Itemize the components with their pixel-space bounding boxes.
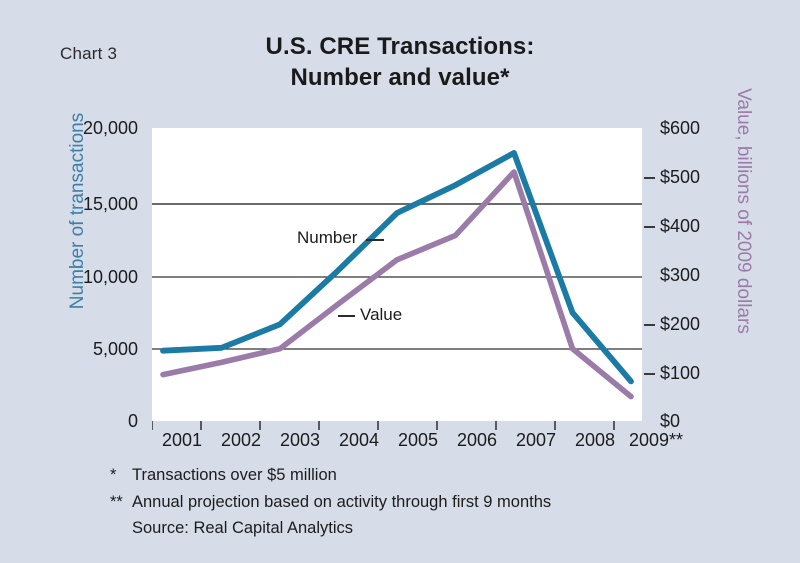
tick-dash-200	[644, 324, 655, 326]
footnote-2: **Annual projection based on activity th…	[110, 489, 551, 516]
plot-svg	[152, 128, 642, 421]
footnote-1: *Transactions over $5 million	[110, 462, 551, 489]
y-axis-right-title: Value, billions of 2009 dollars	[732, 66, 754, 356]
y-axis-right-tick-0: $0	[660, 411, 740, 432]
title-line-1: U.S. CRE Transactions:	[266, 33, 535, 60]
series-leader-value	[338, 315, 355, 317]
footnote-2-mark: **	[110, 489, 132, 516]
y-axis-right-tick-100: $100	[660, 363, 740, 384]
tick-dash-400	[644, 226, 655, 228]
number-series-line	[163, 153, 631, 382]
footnote-1-text: Transactions over $5 million	[132, 466, 337, 484]
title-line-2: Number and value*	[0, 63, 800, 94]
series-label-value: Value	[360, 305, 402, 325]
footnote-source: Source: Real Capital Analytics	[110, 515, 551, 542]
footnote-2-text: Annual projection based on activity thro…	[132, 493, 551, 511]
y-axis-right-tick-500: $500	[660, 167, 740, 188]
tick-dash-100	[644, 373, 655, 375]
y-axis-left-title: Number of transactions	[67, 71, 89, 351]
page-title: U.S. CRE Transactions: Number and value*	[0, 32, 800, 93]
gridlines	[152, 204, 642, 349]
chart-figure: Chart 3 U.S. CRE Transactions: Number an…	[0, 0, 800, 563]
series-label-number: Number	[297, 228, 357, 248]
plot-area	[152, 128, 642, 421]
y-axis-right-tick-200: $200	[660, 314, 740, 335]
y-axis-right-tick-400: $400	[660, 216, 740, 237]
y-axis-left-tick-0: 0	[18, 411, 138, 432]
tick-dash-500	[644, 177, 655, 179]
y-axis-right-tick-600: $600	[660, 118, 740, 139]
footnote-1-mark: *	[110, 462, 132, 489]
footnotes: *Transactions over $5 million **Annual p…	[110, 462, 551, 542]
x-axis-tick-2009: 2009**	[612, 430, 700, 451]
series-leader-number	[366, 239, 384, 241]
y-axis-right-tick-300: $300	[660, 265, 740, 286]
